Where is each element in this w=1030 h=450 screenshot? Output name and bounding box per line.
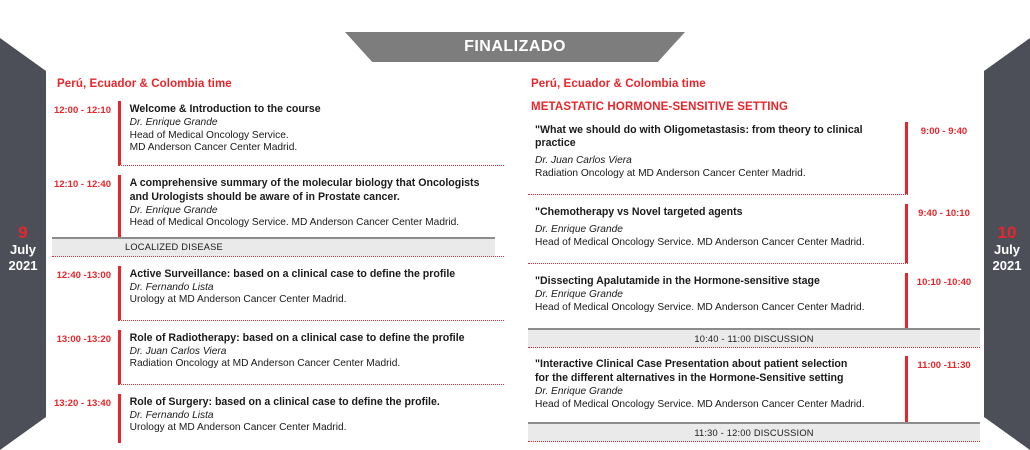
session-time: 13:20 - 13:40 <box>52 394 118 443</box>
session-title-2: and Urologists should be aware of in Pro… <box>130 191 504 204</box>
session-title: Role of Surgery: based on a clinical cas… <box>130 396 504 409</box>
session-row[interactable]: 13:20 - 13:40 Role of Surgery: based on … <box>52 394 504 443</box>
discussion-label: 10:40 - 11:00 DISCUSSION <box>694 334 813 344</box>
day-tab-july-10[interactable]: 10 July 2021 <box>984 38 1030 450</box>
session-time: 9:00 - 9:40 <box>908 122 980 194</box>
session-time: 11:00 -11:30 <box>908 356 980 422</box>
session-affiliation: Head of Medical Oncology Service. <box>130 130 504 143</box>
day-number: 9 <box>0 223 46 242</box>
session-time: 12:00 - 12:10 <box>52 101 118 165</box>
spacer <box>130 230 504 237</box>
session-speaker: Dr. Juan Carlos Viera <box>535 155 905 168</box>
day-tab-july-9[interactable]: 9 July 2021 <box>0 38 46 450</box>
session-affiliation: Radiation Oncology at MD Anderson Cancer… <box>535 168 905 181</box>
session-body: "Dissecting Apalutamide in the Hormone-s… <box>528 273 905 328</box>
section-separator <box>528 347 980 348</box>
session-row[interactable]: "What we should do with Oligometastasis:… <box>528 122 980 194</box>
agenda-column-day-1: Perú, Ecuador & Colombia time 12:00 - 12… <box>52 0 504 443</box>
session-list-day1-part1: 12:00 - 12:10 Welcome & Introduction to … <box>52 101 504 237</box>
session-time: 10:10 -10:40 <box>908 273 980 328</box>
session-body: Active Surveillance: based on a clinical… <box>121 266 504 320</box>
discussion-bar-1: 10:40 - 11:00 DISCUSSION <box>528 328 980 347</box>
spacer <box>535 314 905 328</box>
session-speaker: Dr. Enrique Grande <box>535 224 905 237</box>
session-body: Role of Surgery: based on a clinical cas… <box>121 394 504 443</box>
session-speaker: Dr. Juan Carlos Viera <box>130 346 504 359</box>
session-row[interactable]: 12:40 -13:00 Active Surveillance: based … <box>52 266 504 320</box>
discussion-bar-2: 11:30 - 12:00 DISCUSSION <box>528 422 980 441</box>
day-year: 2021 <box>993 258 1022 273</box>
session-body: Welcome & Introduction to the course Dr.… <box>121 101 504 165</box>
session-separator <box>118 165 504 166</box>
session-body: A comprehensive summary of the molecular… <box>121 175 504 237</box>
session-body: "Chemotherapy vs Novel targeted agents D… <box>528 204 905 263</box>
spacer <box>535 249 905 263</box>
session-affiliation: Head of Medical Oncology Service. MD And… <box>535 237 905 250</box>
session-affiliation: Radiation Oncology at MD Anderson Cancer… <box>130 358 504 371</box>
day-year: 2021 <box>9 258 38 273</box>
session-title-2: for the different alternatives in the Ho… <box>535 372 905 385</box>
session-speaker: Dr. Enrique Grande <box>535 386 905 399</box>
session-row[interactable]: "Chemotherapy vs Novel targeted agents D… <box>528 204 980 263</box>
day-month: July <box>994 242 1020 257</box>
day-tab-right-inner: 10 July 2021 <box>984 223 1030 274</box>
spacer <box>130 155 504 165</box>
session-speaker: Dr. Enrique Grande <box>535 289 905 302</box>
timezone-label: Perú, Ecuador & Colombia time <box>57 78 504 90</box>
session-row[interactable]: "Dissecting Apalutamide in the Hormone-s… <box>528 273 980 328</box>
session-time: 9:40 - 10:10 <box>908 204 980 263</box>
session-affiliation: Urology at MD Anderson Cancer Center Mad… <box>130 422 504 435</box>
session-affiliation: Head of Medical Oncology Service. MD And… <box>535 399 905 412</box>
section-separator <box>528 441 980 442</box>
session-title: Active Surveillance: based on a clinical… <box>130 268 504 281</box>
session-separator <box>528 263 908 264</box>
session-time: 12:10 - 12:40 <box>52 175 118 237</box>
spacer <box>130 307 504 320</box>
day-month: July <box>10 242 36 257</box>
spacer <box>130 435 504 443</box>
session-time: 12:40 -13:00 <box>52 266 118 320</box>
day-tab-left-inner: 9 July 2021 <box>0 223 46 274</box>
spacer <box>130 371 504 384</box>
discussion-label: 11:30 - 12:00 DISCUSSION <box>694 428 813 438</box>
section-header-label: LOCALIZED DISEASE <box>125 242 223 252</box>
session-body: "What we should do with Oligometastasis:… <box>528 122 905 194</box>
session-title: "What we should do with Oligometastasis:… <box>535 124 905 150</box>
session-affiliation-2: MD Anderson Cancer Center Madrid. <box>130 142 504 155</box>
session-row[interactable]: "Interactive Clinical Case Presentation … <box>528 356 980 422</box>
day-number: 10 <box>984 223 1030 242</box>
section-separator <box>52 256 504 257</box>
agenda-column-day-2: Perú, Ecuador & Colombia time METASTATIC… <box>528 0 980 442</box>
session-title: Welcome & Introduction to the course <box>130 103 504 116</box>
session-list-day1-part2: 12:40 -13:00 Active Surveillance: based … <box>52 266 504 443</box>
session-row[interactable]: 12:00 - 12:10 Welcome & Introduction to … <box>52 101 504 165</box>
session-speaker: Dr. Enrique Grande <box>130 205 504 218</box>
session-title: "Interactive Clinical Case Presentation … <box>535 358 905 371</box>
session-affiliation: Head of Medical Oncology Service. MD And… <box>535 302 905 315</box>
session-separator <box>118 384 504 385</box>
session-row[interactable]: 12:10 - 12:40 A comprehensive summary of… <box>52 175 504 237</box>
session-title: A comprehensive summary of the molecular… <box>130 177 504 190</box>
session-separator <box>118 320 504 321</box>
session-title: "Dissecting Apalutamide in the Hormone-s… <box>535 275 905 288</box>
session-body: "Interactive Clinical Case Presentation … <box>528 356 905 422</box>
session-affiliation: Urology at MD Anderson Cancer Center Mad… <box>130 294 504 307</box>
session-time: 13:00 -13:20 <box>52 330 118 384</box>
spacer <box>535 180 905 194</box>
section-header-localized-disease: LOCALIZED DISEASE <box>52 237 495 256</box>
session-speaker: Dr. Enrique Grande <box>130 117 504 130</box>
section-title-metastatic: METASTATIC HORMONE-SENSITIVE SETTING <box>531 101 980 113</box>
session-title: Role of Radiotherapy: based on a clinica… <box>130 332 504 345</box>
spacer <box>535 411 905 422</box>
session-affiliation: Head of Medical Oncology Service. MD And… <box>130 217 504 230</box>
timezone-label: Perú, Ecuador & Colombia time <box>531 78 980 90</box>
session-row[interactable]: 13:00 -13:20 Role of Radiotherapy: based… <box>52 330 504 384</box>
session-speaker: Dr. Fernando Lista <box>130 410 504 423</box>
session-separator <box>528 194 908 195</box>
session-speaker: Dr. Fernando Lista <box>130 282 504 295</box>
session-title: "Chemotherapy vs Novel targeted agents <box>535 206 905 219</box>
session-body: Role of Radiotherapy: based on a clinica… <box>121 330 504 384</box>
session-list-day2-part1: "What we should do with Oligometastasis:… <box>528 122 980 328</box>
